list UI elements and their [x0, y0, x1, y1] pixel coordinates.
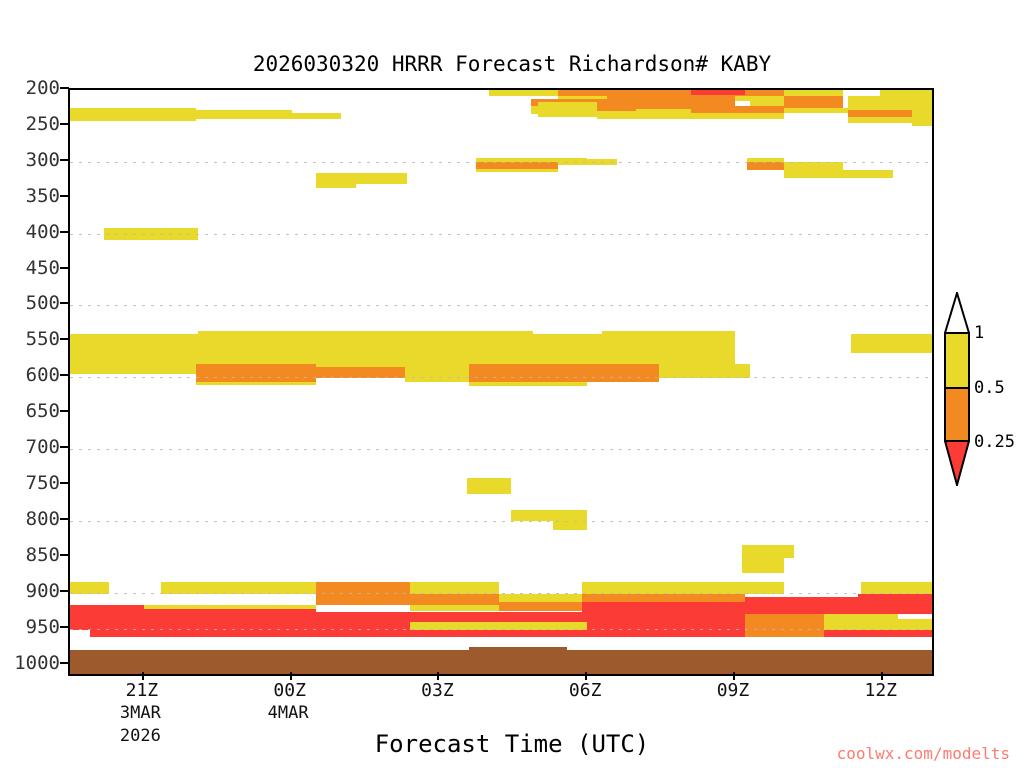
- heatmap-cell: [858, 594, 932, 614]
- heatmap-cell: [742, 545, 794, 559]
- heatmap-cell: [70, 108, 196, 121]
- heatmap-cell: [784, 162, 843, 178]
- plot-area: [68, 88, 934, 676]
- heatmap-cell: [602, 331, 735, 357]
- x-tick-label-06Z: 06Z: [569, 680, 602, 701]
- colorbar-over-arrow: [944, 292, 970, 334]
- heatmap-cell: [848, 110, 912, 117]
- heatmap-cell: [316, 364, 405, 368]
- heatmap-cell: [410, 622, 587, 631]
- x-tick-mark-12Z: [881, 672, 883, 680]
- heatmap-cell: [582, 602, 745, 614]
- colorbar-tick-0point5: 0.5: [974, 378, 1005, 398]
- heatmap-cell: [70, 605, 144, 618]
- heatmap-cell: [316, 184, 355, 188]
- heatmap-cell: [597, 111, 636, 119]
- heatmap-cell: [851, 334, 932, 353]
- heatmap-cell: [316, 582, 410, 594]
- heatmap-cell: [636, 109, 690, 118]
- heatmap-cell: [750, 96, 784, 105]
- colorbar-segment-orange: [946, 387, 968, 440]
- heatmap-cell: [747, 162, 784, 170]
- heatmap-cell: [531, 106, 538, 114]
- heatmap-cell: [316, 173, 407, 184]
- heatmap-cell: [70, 582, 109, 594]
- colorbar-body: [944, 332, 970, 442]
- heatmap-cell: [691, 90, 745, 95]
- heatmap-cell: [104, 228, 198, 240]
- heatmap-cell: [691, 113, 785, 119]
- heatmap-cell: [410, 612, 587, 622]
- heatmap-cell: [70, 637, 932, 646]
- colorbar-tick-1: 1: [974, 323, 984, 343]
- heatmap-cell: [476, 169, 557, 172]
- heatmap-cell: [843, 170, 892, 178]
- heatmap-cell: [533, 334, 602, 357]
- x-tick-label-12Z: 12Z: [864, 680, 897, 701]
- heatmap-cell: [745, 614, 824, 621]
- heatmap-cell: [784, 96, 843, 107]
- footer-credit: coolwx.com/modelts: [837, 744, 1010, 763]
- richardson-number-colorbar: 1 0.5 0.25: [944, 292, 970, 482]
- heatmap-cell: [196, 110, 292, 119]
- chart-canvas: 2026030320 HRRR Forecast Richardson# KAB…: [0, 0, 1024, 768]
- heatmap-cell: [144, 618, 410, 630]
- x-tick-date-21Z: 3MAR: [120, 703, 161, 723]
- colorbar-under-arrow: [944, 440, 970, 486]
- heatmap-cell: [558, 159, 617, 165]
- heatmap-cell: [405, 364, 469, 375]
- x-tick-mark-09Z: [733, 672, 735, 680]
- heatmap-cell: [824, 614, 898, 621]
- heatmap-cell: [144, 609, 316, 618]
- heatmap-cell: [410, 594, 499, 605]
- heatmap-cell: [538, 109, 597, 116]
- heatmap-cell: [316, 594, 410, 605]
- heatmap-cell: [745, 630, 824, 637]
- heatmap-cell: [824, 630, 932, 637]
- heatmap-cell: [742, 558, 784, 572]
- colorbar-divider: [946, 387, 968, 389]
- heatmap-cell: [745, 597, 858, 614]
- x-tick-date-00Z: 4MAR: [268, 703, 309, 723]
- heatmap-cell: [587, 614, 745, 621]
- heatmap-cell: [70, 618, 144, 630]
- terrain-step: [70, 650, 469, 674]
- heatmap-cell: [898, 619, 932, 630]
- heatmap-cell: [745, 622, 824, 631]
- heatmap-cell: [848, 117, 912, 123]
- heatmap-cell: [161, 582, 316, 594]
- heatmap-cell: [198, 331, 533, 357]
- heatmap-cell: [582, 582, 745, 594]
- page-title: 2026030320 HRRR Forecast Richardson# KAB…: [0, 52, 1024, 76]
- x-tick-label-21Z: 21Z: [126, 680, 159, 701]
- heatmap-cell: [691, 106, 785, 113]
- heatmap-cell: [824, 622, 898, 631]
- heatmap-cell: [745, 582, 784, 594]
- heatmap-cell: [467, 478, 511, 494]
- heatmap-cell: [316, 367, 405, 378]
- heatmap-cell: [538, 102, 597, 109]
- x-tick-label-03Z: 03Z: [421, 680, 454, 701]
- colorbar-segment-yellow: [946, 334, 968, 387]
- x-tick-mark-03Z: [437, 672, 439, 680]
- x-tick-label-00Z: 00Z: [273, 680, 306, 701]
- heatmap-cell: [582, 594, 745, 602]
- heatmap-cell: [405, 374, 469, 381]
- heatmap-cell: [144, 605, 316, 609]
- terrain-step: [469, 647, 568, 674]
- x-tick-mark-00Z: [290, 672, 292, 680]
- heatmap-cell: [100, 364, 196, 375]
- heatmap-cell: [511, 510, 587, 521]
- heatmap-cell: [196, 382, 317, 386]
- heatmap-cells: [70, 90, 932, 674]
- terrain-step: [567, 650, 932, 674]
- heatmap-cell: [784, 108, 848, 113]
- heatmap-cell: [196, 364, 317, 382]
- colorbar-tick-0point25: 0.25: [974, 432, 1015, 452]
- heatmap-cell: [587, 622, 745, 631]
- heatmap-cell: [499, 602, 583, 611]
- heatmap-cell: [476, 162, 557, 169]
- x-tick-label-09Z: 09Z: [717, 680, 750, 701]
- heatmap-cell: [70, 630, 90, 636]
- heatmap-cell: [469, 364, 659, 382]
- heatmap-cell: [499, 594, 583, 602]
- heatmap-cell: [553, 521, 587, 530]
- x-tick-mark-06Z: [585, 672, 587, 680]
- heatmap-cell: [659, 364, 750, 378]
- heatmap-cell: [861, 582, 932, 594]
- y-axis-ticks: [0, 88, 70, 676]
- heatmap-cell: [469, 382, 587, 386]
- heatmap-cell: [912, 116, 932, 126]
- heatmap-cell: [489, 90, 558, 96]
- heatmap-cell: [292, 113, 341, 119]
- heatmap-cell: [90, 630, 745, 637]
- x-tick-mark-21Z: [142, 672, 144, 680]
- heatmap-cell: [410, 582, 499, 594]
